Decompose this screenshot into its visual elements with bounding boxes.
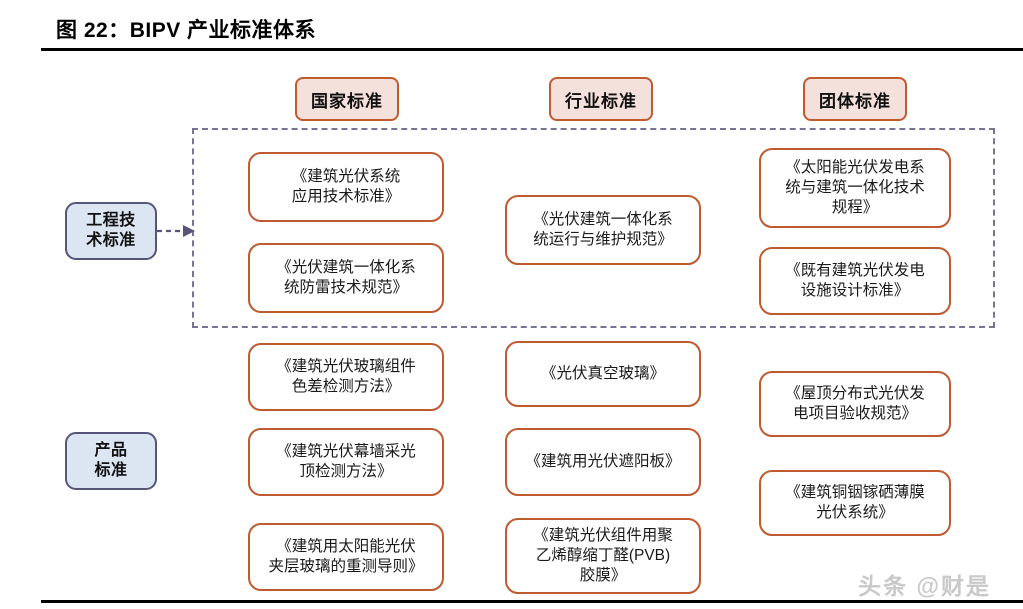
standard-box-prod-group-2[interactable]: 《建筑铜铟镓硒薄膜光伏系统》 [759,470,951,536]
standard-box-prod-industry-3[interactable]: 《建筑光伏组件用聚乙烯醇缩丁醛(PVB)胶膜》 [505,518,701,594]
standard-box-eng-national-1[interactable]: 《建筑光伏系统应用技术标准》 [248,152,444,222]
standard-box-prod-national-3[interactable]: 《建筑用太阳能光伏夹层玻璃的重测导则》 [248,523,444,591]
standard-box-eng-group-2[interactable]: 《既有建筑光伏发电设施设计标准》 [759,247,951,315]
watermark: 头条 @财是 [858,567,991,601]
column-header-national: 国家标准 [295,77,399,121]
row-label-product: 产品 标准 [65,432,157,490]
standard-box-prod-national-1[interactable]: 《建筑光伏玻璃组件色差检测方法》 [248,343,444,411]
row-label-product-line1: 产品 [94,442,127,459]
standard-box-prod-group-1[interactable]: 《屋顶分布式光伏发电项目验收规范》 [759,371,951,437]
standard-box-eng-industry-1[interactable]: 《光伏建筑一体化系统运行与维护规范》 [505,195,701,265]
standard-box-prod-industry-1[interactable]: 《光伏真空玻璃》 [505,341,701,407]
bottom-divider [41,600,1023,603]
standard-box-prod-industry-2[interactable]: 《建筑用光伏遮阳板》 [505,428,701,496]
arrow-connector-engineering [157,221,197,241]
column-header-industry: 行业标准 [549,77,653,121]
row-label-engineering: 工程技 术标准 [65,202,157,260]
column-header-group: 团体标准 [803,77,907,121]
page-title: 图 22：BIPV 产业标准体系 [56,14,316,44]
row-label-product-line2: 标准 [94,462,127,479]
standard-box-prod-national-2[interactable]: 《建筑光伏幕墙采光顶检测方法》 [248,428,444,496]
standard-box-eng-group-1[interactable]: 《太阳能光伏发电系统与建筑一体化技术规程》 [759,148,951,228]
title-divider [41,48,1023,51]
figure-canvas: 图 22：BIPV 产业标准体系 国家标准 行业标准 团体标准 工程技 术标准 … [0,0,1023,609]
row-label-engineering-line1: 工程技 [86,212,136,229]
standard-box-eng-national-2[interactable]: 《光伏建筑一体化系统防雷技术规范》 [248,243,444,313]
row-label-engineering-line2: 术标准 [86,232,136,249]
